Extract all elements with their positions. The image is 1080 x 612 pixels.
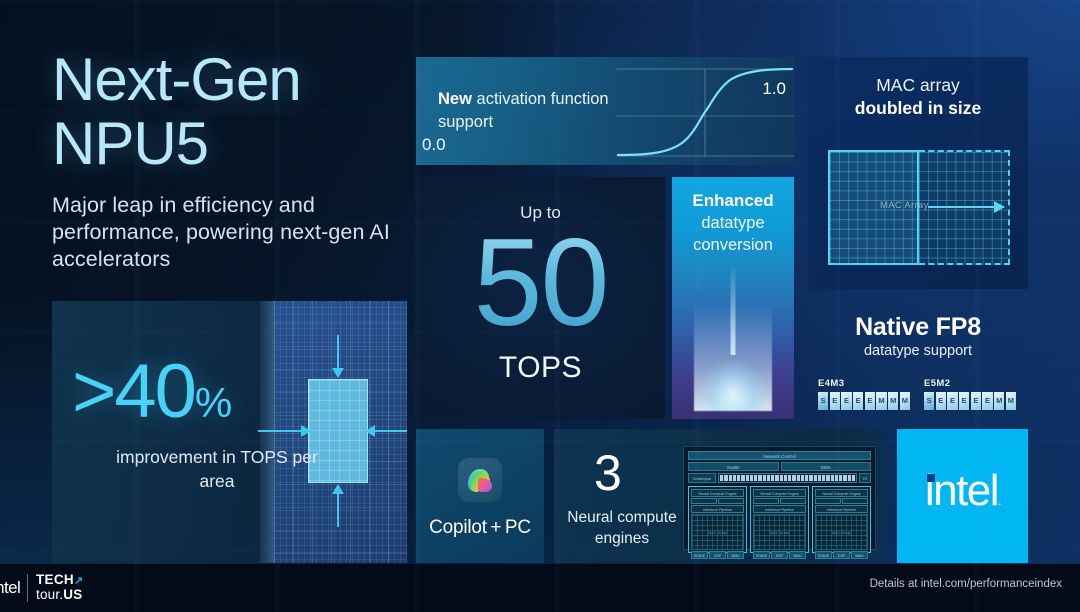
tech-tour-tour-text: tour. <box>36 587 63 602</box>
mac-array-inner-label: MAC Array <box>880 200 929 211</box>
nce-mid: Inference Pipeline <box>815 505 868 513</box>
intel-i-dot-icon <box>927 474 935 482</box>
nce-bottom-2: MMU <box>727 551 744 559</box>
card-native-fp8: Native FP8 datatype support E4M3 S E E E… <box>808 302 1028 419</box>
mac-array-title-text: MAC array <box>876 75 960 95</box>
die-edge-decoration <box>260 301 274 563</box>
fp8-bit-row: S E E E E M M M <box>818 392 910 410</box>
perf-number: >40 <box>72 349 195 434</box>
nce-mid: Inference Pipeline <box>691 505 744 513</box>
nce-mid: Inference Pipeline <box>753 505 806 513</box>
nce-sub-b <box>780 498 806 504</box>
card-tops: Up to 50 TOPS <box>416 177 665 419</box>
nce-mac-grid: MAC Array <box>691 514 744 550</box>
nce-bottom-row: SHAVE DSP MMU <box>815 551 868 559</box>
nce-bottom-row: SHAVE DSP MMU <box>753 551 806 559</box>
intel-wordmark-text: intel <box>925 466 998 515</box>
copilot-icon <box>458 458 502 502</box>
diagram-second-row: Scaler DMA <box>688 462 871 471</box>
nce-bottom-2: MMU <box>851 551 868 559</box>
fp8-bit: M <box>1006 392 1016 410</box>
tech-tour-line2: tour.US <box>36 588 83 602</box>
mac-array-title: MAC array doubled in size <box>808 57 1028 120</box>
nce-sub-rows <box>691 498 744 504</box>
fp8-bit: S <box>818 392 828 410</box>
footer-divider <box>27 574 28 602</box>
tech-tour-line1: TECH↗ <box>36 573 83 588</box>
page-title-line2: NPU5 <box>52 112 422 176</box>
nce-sub-rows <box>815 498 868 504</box>
chip-glow-icon <box>694 303 772 411</box>
fp8-bit: M <box>900 392 910 410</box>
nce-title: Neural Compute Engine <box>691 489 744 497</box>
fp8-bit: E <box>959 392 969 410</box>
card-copilot-pc: Copilot + PC <box>416 429 544 563</box>
headline-block: Next-Gen NPU5 Major leap in efficiency a… <box>52 48 422 273</box>
card-enhanced-datatype: Enhanced datatype conversion <box>672 177 794 419</box>
fp8-format-label: E5M2 <box>924 378 1016 389</box>
nce-mac-grid: MAC Array <box>815 514 868 550</box>
fp8-bit: E <box>865 392 875 410</box>
diagram-memory-cells <box>718 473 857 483</box>
copilot-label: Copilot + PC <box>416 517 544 539</box>
card-neural-compute-engines: 3 Neural compute engines Network Control… <box>554 429 886 563</box>
nce-title: Neural Compute Engine <box>753 489 806 497</box>
chip-visual <box>672 269 794 419</box>
nce-bottom-1: DSP <box>771 551 788 559</box>
fp8-bit: M <box>888 392 898 410</box>
diagram-engine-row: Neural Compute Engine Inference Pipeline… <box>688 486 871 553</box>
mac-array-subtitle: doubled in size <box>808 97 1028 120</box>
shrink-arrow-left-icon <box>258 430 302 432</box>
card-tops-per-area: >40% improvement in TOPS per area <box>52 301 407 563</box>
shrink-arrow-bottom-icon <box>337 493 339 527</box>
fp8-bit: E <box>830 392 840 410</box>
perf-value: >40% <box>72 354 230 441</box>
mac-array-diagram: MAC Array <box>828 150 1010 265</box>
tech-tour-swoosh-icon: ↗ <box>74 575 84 587</box>
fp8-subtitle: datatype support <box>808 343 1028 359</box>
diagram-memory-label: Scratchpad RAM <box>688 473 716 483</box>
nce-sub-a <box>753 498 779 504</box>
diagram-dma-block: DMA <box>781 462 872 471</box>
nce-mac-grid: MAC Array <box>753 514 806 550</box>
enhanced-title: Enhanced <box>682 190 784 212</box>
fp8-bit: S <box>924 392 934 410</box>
nce-bottom-2: MMU <box>789 551 806 559</box>
copilot-glyph-icon <box>465 466 495 494</box>
tops-value: 50 <box>416 217 665 349</box>
fp8-bit: M <box>994 392 1004 410</box>
sigmoid-chart <box>616 57 794 165</box>
intel-logo-card: intel. <box>897 429 1028 563</box>
intel-wordmark: intel. <box>925 469 1000 523</box>
fp8-bit-row: S E E E E E M M <box>924 392 1016 410</box>
perf-percent-sign: % <box>195 379 230 426</box>
mac-array-expand-arrow-icon <box>928 206 1004 208</box>
fp8-format-e5m2: E5M2 S E E E E E M M <box>924 378 1016 410</box>
activation-bold-word: New <box>438 90 472 108</box>
tech-tour-logo: TECH↗ tour.US <box>36 573 83 602</box>
footer-bar: intel TECH↗ tour.US Details at intel.com… <box>0 564 1080 612</box>
diagram-memory-io: I/O <box>859 473 871 483</box>
slide-canvas: Next-Gen NPU5 Major leap in efficiency a… <box>0 0 1080 612</box>
perf-caption: improvement in TOPS per area <box>112 445 322 493</box>
diagram-nce-block: Neural Compute Engine Inference Pipeline… <box>812 486 871 553</box>
diagram-memory-row: Scratchpad RAM I/O <box>688 473 871 483</box>
die-shot-image <box>274 301 407 563</box>
enhanced-line2: datatype <box>701 214 764 232</box>
nce-sub-a <box>815 498 841 504</box>
diagram-nce-block: Neural Compute Engine Inference Pipeline… <box>750 486 809 553</box>
diagram-nce-block: Neural Compute Engine Inference Pipeline… <box>688 486 747 553</box>
nce-bottom-1: DSP <box>709 551 726 559</box>
fp8-format-list: E4M3 S E E E E M M M E5M2 S E E <box>818 378 1018 410</box>
enhanced-heading: Enhanced datatype conversion <box>672 177 794 256</box>
nce-sub-b <box>842 498 868 504</box>
fp8-bit: E <box>947 392 957 410</box>
nce-sub-a <box>691 498 717 504</box>
card-activation-function: New activation function support 0.0 1.0 <box>416 57 794 165</box>
details-disclaimer: Details at intel.com/performanceindex <box>870 578 1062 590</box>
tech-tour-us-text: US <box>63 587 82 602</box>
nce-sub-b <box>718 498 744 504</box>
nce-bottom-0: SHAVE <box>753 551 770 559</box>
fp8-bit: E <box>936 392 946 410</box>
page-subtitle: Major leap in efficiency and performance… <box>52 192 422 273</box>
engines-label: Neural compute engines <box>562 507 682 549</box>
activation-card-text: New activation function support <box>438 88 628 134</box>
shrink-arrow-right-icon <box>374 430 407 432</box>
enhanced-line3: conversion <box>693 236 773 254</box>
nce-sub-rows <box>753 498 806 504</box>
fp8-bit: M <box>876 392 886 410</box>
intel-registered-mark: . <box>998 493 1000 508</box>
fp8-bit: E <box>982 392 992 410</box>
diagram-scaler-block: Scaler <box>688 462 779 471</box>
sigmoid-chart-svg <box>616 57 794 165</box>
npu-block-diagram: Network Control Scaler DMA Scratchpad RA… <box>683 446 876 550</box>
fp8-bit: E <box>841 392 851 410</box>
nce-bottom-1: DSP <box>833 551 850 559</box>
footer-intel-logo: intel <box>0 578 20 598</box>
nce-bottom-0: SHAVE <box>815 551 832 559</box>
fp8-bit: E <box>971 392 981 410</box>
diagram-top-bar: Network Control <box>688 451 871 460</box>
shrink-arrow-top-icon <box>337 335 339 369</box>
nce-title: Neural Compute Engine <box>815 489 868 497</box>
fp8-format-e4m3: E4M3 S E E E E M M M <box>818 378 910 410</box>
fp8-title: Native FP8 <box>808 302 1028 342</box>
card-mac-array: MAC array doubled in size MAC Array <box>808 57 1028 289</box>
fp8-format-label: E4M3 <box>818 378 910 389</box>
tops-unit: TOPS <box>416 351 665 385</box>
sigmoid-low-label: 0.0 <box>422 135 446 155</box>
nce-bottom-0: SHAVE <box>691 551 708 559</box>
page-title-line1: Next-Gen <box>52 48 422 112</box>
tech-tour-tech-text: TECH <box>36 572 74 587</box>
nce-bottom-row: SHAVE DSP MMU <box>691 551 744 559</box>
fp8-bit: E <box>853 392 863 410</box>
sigmoid-high-label: 1.0 <box>762 79 786 99</box>
engines-count: 3 <box>594 448 622 498</box>
